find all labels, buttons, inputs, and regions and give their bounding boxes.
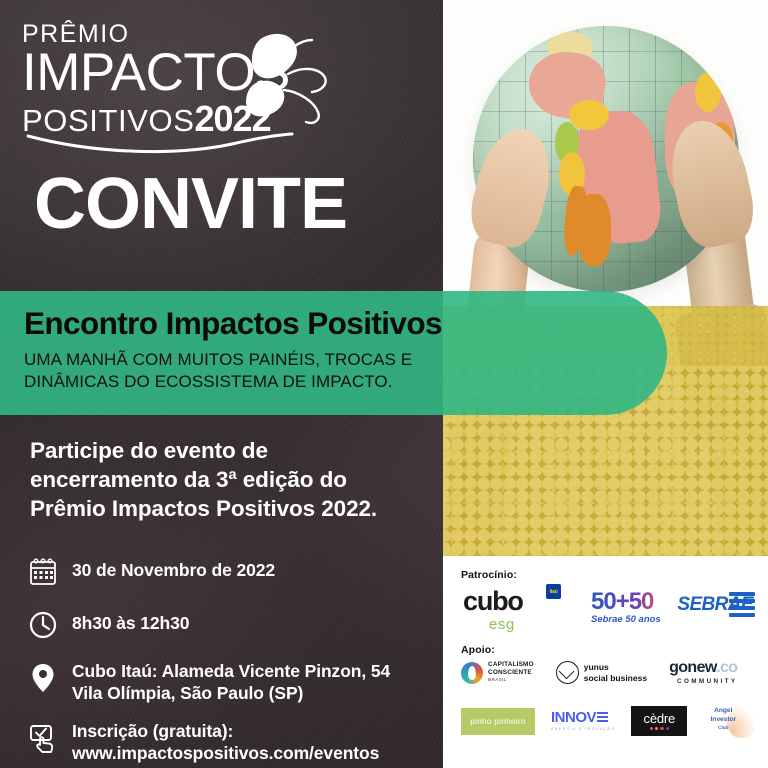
angel-line1: Angel xyxy=(714,707,732,714)
capitalismo-consciente-text: CAPITALISMO CONSCIENTE BRASIL xyxy=(488,661,534,684)
butterfly-icon xyxy=(218,30,330,142)
sebrae-bars-icon xyxy=(729,592,755,624)
yunus-text: yunus social business xyxy=(584,662,647,682)
detail-date-text: 30 de Novembro de 2022 xyxy=(72,553,275,581)
cedre-dots-icon xyxy=(650,727,670,730)
capitalismo-consciente-logo: CAPITALISMO CONSCIENTE BRASIL xyxy=(461,661,534,684)
apoio-label: Apoio: xyxy=(461,644,495,656)
itau-badge-icon: itaú xyxy=(546,584,561,599)
apoio-logos-row-1: CAPITALISMO CONSCIENTE BRASIL yunus soci… xyxy=(461,660,755,685)
gonew-wordmark: gonew.co xyxy=(669,660,737,676)
capitalismo-consciente-mark-icon xyxy=(461,662,483,684)
innove-wordmark: INNOV xyxy=(551,709,596,726)
angel-line2: Investor xyxy=(710,716,736,723)
apoio-logos-row-2: pinho pinheiro INNOV ENERGIA E INOVAÇÃO … xyxy=(461,704,757,738)
event-details-list: 30 de Novembro de 2022 8h30 às 12h30 Cub… xyxy=(28,553,438,768)
event-title-band: Encontro Impactos Positivos UMA MANHÃ CO… xyxy=(0,291,667,415)
calendar-icon xyxy=(28,553,72,591)
cedre-wordmark: cèdre xyxy=(644,712,676,725)
event-description-line3: Prêmio Impactos Positivos 2022. xyxy=(30,495,377,524)
clock-icon xyxy=(28,606,72,644)
angel-line3: Club xyxy=(718,725,728,730)
detail-row-date: 30 de Novembro de 2022 xyxy=(28,553,438,591)
landmass-venezuela xyxy=(569,100,609,130)
pinho-pinheiro-wordmark: pinho pinheiro xyxy=(470,716,525,726)
event-description-line1: Participe do evento de xyxy=(30,437,377,466)
innove-wordmark-row: INNOV xyxy=(551,710,615,726)
gonew-suffix: .co xyxy=(716,659,737,676)
detail-registration-label: Inscrição (gratuita): xyxy=(72,720,379,742)
detail-registration-text[interactable]: Inscrição (gratuita): www.impactospositi… xyxy=(72,719,379,764)
event-subtitle-line2: DINÂMICAS DO ECOSSISTEMA DE IMPACTO. xyxy=(24,371,412,393)
sebrae-logo: 50+50 Sebrae 50 anos SEBRAE xyxy=(591,590,753,632)
gonew-sub: COMMUNITY xyxy=(669,678,737,685)
detail-time-text: 8h30 às 12h30 xyxy=(72,606,189,634)
registration-url[interactable]: www.impactospositivos.com/eventos xyxy=(72,742,379,764)
gonew-word: gonew xyxy=(669,659,716,676)
cubo-wordmark: cubo xyxy=(463,588,559,615)
cc-line3: BRASIL xyxy=(488,677,507,682)
event-description: Participe do evento de encerramento da 3… xyxy=(30,437,377,523)
pinho-pinheiro-logo: pinho pinheiro xyxy=(461,708,535,735)
cedre-logo: cèdre xyxy=(631,706,687,736)
hands-holding-globe-photo xyxy=(443,0,768,556)
event-description-line2: encerramento da 3ª edição do xyxy=(30,466,377,495)
angel-investor-text: Angel Investor Club xyxy=(703,707,743,733)
gonew-co-community-logo: gonew.co COMMUNITY xyxy=(669,660,737,685)
event-subtitle-line1: UMA MANHÃ COM MUITOS PAINÉIS, TROCAS E xyxy=(24,349,412,371)
click-checkbox-icon xyxy=(28,719,72,757)
page-title: CONVITE xyxy=(34,168,347,240)
event-subtitle: UMA MANHÃ COM MUITOS PAINÉIS, TROCAS E D… xyxy=(24,349,412,393)
cubo-esg-logo: cubo esg itaú xyxy=(463,588,559,634)
invitation-poster: PRÊMIO IMPACTOS POSITIVOS2022 CONVITE En… xyxy=(0,0,768,768)
detail-location-line2: Vila Olímpia, São Paulo (SP) xyxy=(72,682,390,704)
sebrae-wordmark: SEBRAE xyxy=(677,594,753,616)
yunus-line1: yunus xyxy=(584,662,609,672)
detail-location-line1: Cubo Itaú: Alameda Vicente Pinzon, 54 xyxy=(72,660,390,682)
cc-line1: CAPITALISMO xyxy=(488,661,534,668)
detail-row-registration: Inscrição (gratuita): www.impactospositi… xyxy=(28,719,438,764)
itau-badge-text: itaú xyxy=(549,589,557,595)
yunus-mark-icon xyxy=(556,661,579,684)
detail-row-location: Cubo Itaú: Alameda Vicente Pinzon, 54 Vi… xyxy=(28,659,438,704)
event-title: Encontro Impactos Positivos xyxy=(24,308,442,340)
yunus-line2: social business xyxy=(584,673,647,683)
cubo-esg-tagline: esg xyxy=(489,617,559,632)
innove-bars-icon xyxy=(597,712,608,724)
premio-impactos-positivos-logo: PRÊMIO IMPACTOS POSITIVOS2022 xyxy=(22,22,322,137)
detail-location-text: Cubo Itaú: Alameda Vicente Pinzon, 54 Vi… xyxy=(72,659,390,704)
landmass-africa-north xyxy=(695,72,721,112)
sponsors-panel: Patrocínio: cubo esg itaú 50+50 Sebrae 5… xyxy=(443,556,768,768)
cc-line2: CONSCIENTE xyxy=(488,669,532,676)
location-pin-icon xyxy=(28,659,72,697)
innove-sub: ENERGIA E INOVAÇÃO xyxy=(551,728,615,732)
landmass-argentina xyxy=(577,194,611,266)
patrocinio-label: Patrocínio: xyxy=(461,569,517,581)
detail-row-time: 8h30 às 12h30 xyxy=(28,606,438,644)
innove-logo: INNOV ENERGIA E INOVAÇÃO xyxy=(551,710,615,732)
yunus-social-business-logo: yunus social business xyxy=(556,661,647,684)
angel-investor-club-logo: Angel Investor Club xyxy=(703,704,755,738)
